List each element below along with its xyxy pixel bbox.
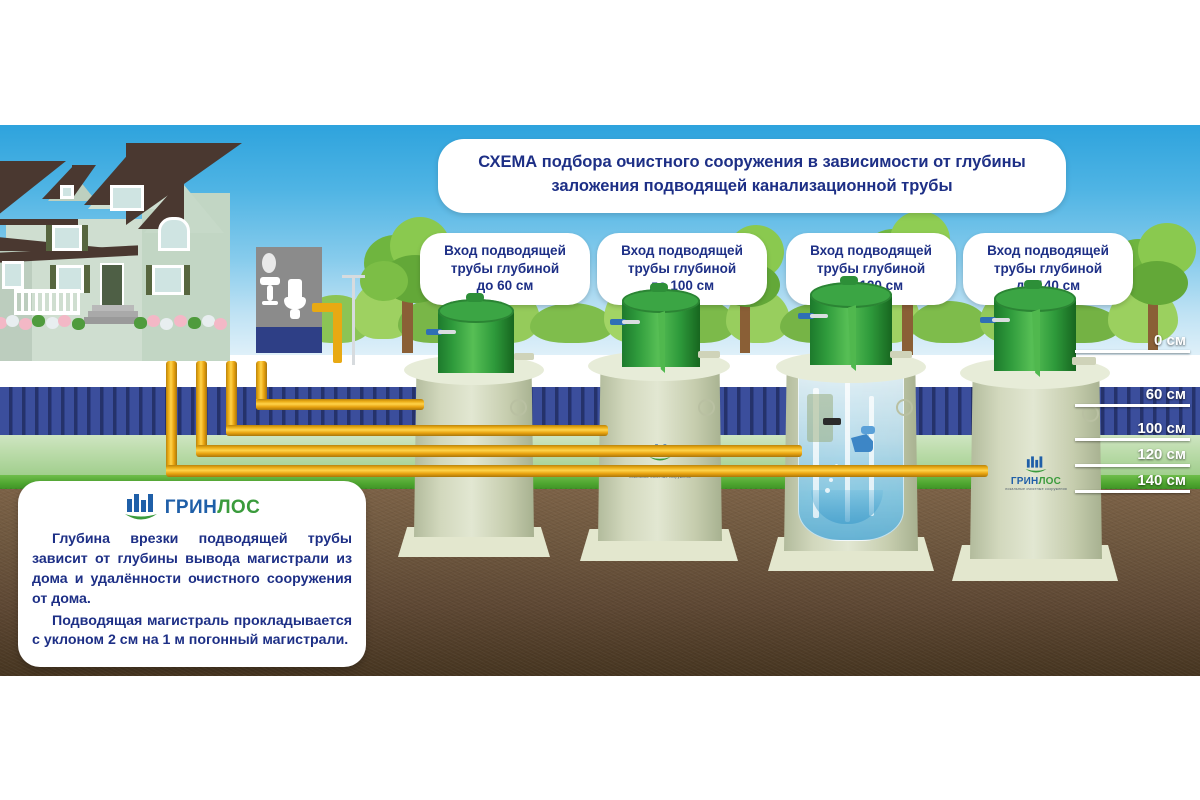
- fence-picket: [52, 387, 61, 437]
- fence-gap: [61, 387, 64, 437]
- fence-gap: [113, 387, 116, 437]
- fence-picket: [143, 387, 152, 437]
- front-door: [100, 263, 124, 307]
- fence-picket: [91, 387, 100, 437]
- tank-logo-subtitle: локальные очистные сооружения: [998, 487, 1074, 491]
- tank-2: ГРИНЛОС локальные очистные сооружения: [580, 307, 738, 579]
- fence-picket: [182, 387, 191, 437]
- side-port: [514, 353, 534, 360]
- depth-label: 140 см: [1075, 473, 1190, 488]
- side-port: [698, 351, 720, 358]
- title-line-1: СХЕМА подбора очистного сооружения в зав…: [456, 151, 1048, 175]
- sink-icon: [260, 277, 280, 285]
- logo-part-los: ЛОС: [1038, 476, 1061, 487]
- tank-interior-cutaway: [798, 371, 904, 541]
- fence-picket: [1196, 387, 1200, 437]
- water-level: [811, 490, 883, 524]
- logo-part-green: ГРИН: [1011, 476, 1039, 487]
- fence-picket: [130, 387, 139, 437]
- info-paragraph-2: Подводящая магистраль прокладывается с у…: [32, 612, 352, 652]
- fence-picket: [156, 387, 165, 437]
- side-port: [890, 351, 912, 358]
- fence-picket: [208, 387, 217, 437]
- fence-gap: [139, 387, 142, 437]
- callout-line-2: трубы глубиной: [973, 260, 1123, 278]
- depth-marker-60: 60 см: [1075, 387, 1190, 407]
- fence-gap: [1192, 387, 1195, 437]
- lid-handle: [466, 293, 484, 302]
- info-box: ГРИНЛОС Глубина врезки подводящей трубы …: [18, 481, 366, 667]
- fence-gap: [74, 387, 77, 437]
- fence-gap: [178, 387, 181, 437]
- fence-gap: [191, 387, 194, 437]
- tank-lid: [438, 299, 514, 323]
- window: [110, 185, 144, 211]
- mirror-icon: [262, 253, 276, 273]
- depth-marker-100: 100 см: [1075, 421, 1190, 441]
- supply-pipe-vertical-140: [166, 361, 177, 473]
- info-text: Глубина врезки подводящей трубы зависит …: [32, 530, 352, 651]
- depth-marker-140: 140 см: [1075, 473, 1190, 493]
- info-paragraph-1: Глубина врезки подводящей трубы зависит …: [32, 530, 352, 610]
- lifting-eye: [1082, 405, 1099, 422]
- depth-marker-120: 120 см: [1075, 447, 1190, 467]
- side-port: [1072, 357, 1096, 365]
- fence-picket: [0, 387, 9, 437]
- callout-line-1: Вход подводящей: [973, 242, 1123, 260]
- logo-part-los: ЛОС: [217, 497, 260, 518]
- window: [158, 217, 190, 251]
- supply-pipe-vertical-120: [196, 361, 207, 453]
- logo-part-green: ГРИН: [165, 497, 217, 518]
- fence-gap: [100, 387, 103, 437]
- scene: СХЕМА подбора очистного сооружения в зав…: [0, 125, 1200, 676]
- flower-bed: [0, 315, 90, 331]
- supply-pipe-horizontal-60: [256, 399, 424, 410]
- depth-label: 100 см: [1075, 421, 1190, 436]
- fence-gap: [22, 387, 25, 437]
- depth-label: 0 см: [1075, 333, 1190, 348]
- fence-gap: [87, 387, 90, 437]
- callout-line-1: Вход подводящей: [607, 242, 757, 260]
- greenlos-mark-icon: [1024, 455, 1048, 476]
- fence-gap: [35, 387, 38, 437]
- fence-gap: [750, 387, 753, 437]
- title-banner: СХЕМА подбора очистного сооружения в зав…: [438, 139, 1066, 213]
- callout-line-1: Вход подводящей: [796, 242, 946, 260]
- fence-gap: [763, 387, 766, 437]
- fence-gap: [152, 387, 155, 437]
- outlet-spout: [810, 314, 828, 318]
- callout-line-2: трубы глубиной: [430, 260, 580, 278]
- interior-port: [823, 418, 841, 425]
- supply-pipe-vertical-100: [226, 361, 237, 433]
- post: [352, 275, 355, 365]
- depth-marker-0: 0 см: [1075, 333, 1190, 353]
- post-arm: [342, 275, 365, 278]
- outlet-spout: [438, 330, 456, 334]
- fence-picket: [117, 387, 126, 437]
- supply-pipe-horizontal-140: [166, 465, 988, 477]
- tank-logo-text: ГРИНЛОС: [998, 476, 1074, 487]
- bathroom-cutaway: [256, 247, 322, 353]
- callout-line-1: Вход подводящей: [430, 242, 580, 260]
- supply-pipe-horizontal-120: [196, 445, 802, 457]
- window: [52, 225, 82, 251]
- window: [152, 265, 184, 295]
- roof: [72, 165, 96, 199]
- toilet-icon: [288, 279, 302, 297]
- lid-handle: [650, 283, 668, 292]
- fence-picket: [26, 387, 35, 437]
- callout-depth: до 60 см: [430, 277, 580, 295]
- fence-picket: [741, 387, 750, 437]
- outlet-spout: [992, 318, 1010, 322]
- fence-picket: [13, 387, 22, 437]
- greenlos-logo-text: ГРИНЛОС: [165, 497, 260, 519]
- supply-pipe-horizontal-100: [226, 425, 608, 436]
- depth-rule: [1075, 350, 1190, 353]
- depth-rule: [1075, 464, 1190, 467]
- lid-handle: [840, 276, 858, 285]
- title-line-2: заложения подводящей канализационной тру…: [456, 175, 1048, 199]
- depth-rule: [1075, 438, 1190, 441]
- infographic-canvas: СХЕМА подбора очистного сооружения в зав…: [0, 0, 1200, 800]
- dormer-window: [60, 185, 74, 199]
- fence-gap: [217, 387, 220, 437]
- window: [2, 261, 24, 289]
- fence-picket: [754, 387, 763, 437]
- fence-picket: [39, 387, 48, 437]
- depth-rule: [1075, 490, 1190, 493]
- lid-handle: [1024, 280, 1042, 289]
- lifting-eye: [896, 399, 913, 416]
- house-illustration: [0, 133, 292, 353]
- fence-picket: [936, 387, 945, 437]
- fence-gap: [945, 387, 948, 437]
- tank-lid: [810, 282, 892, 308]
- house-outlet-drop: [333, 303, 342, 363]
- callout-line-2: трубы глубиной: [796, 260, 946, 278]
- lifting-eye: [698, 399, 715, 416]
- depth-rule: [1075, 404, 1190, 407]
- greenlos-logo: ГРИНЛОС: [32, 493, 352, 523]
- fence-gap: [48, 387, 51, 437]
- outlet-spout: [622, 320, 640, 324]
- callout-60: Вход подводящей трубы глубиной до 60 см: [420, 233, 590, 305]
- tank-logo: ГРИНЛОС локальные очистные сооружения: [998, 455, 1074, 491]
- fence-picket: [65, 387, 74, 437]
- fence-gap: [9, 387, 12, 437]
- greenlos-mark-icon: [124, 493, 158, 523]
- callout-line-2: трубы глубиной: [607, 260, 757, 278]
- tank-lid: [622, 289, 700, 313]
- fence-picket: [104, 387, 113, 437]
- tank-lid: [994, 286, 1076, 312]
- flower-bed: [134, 315, 230, 331]
- lifting-eye: [510, 399, 527, 416]
- depth-label: 60 см: [1075, 387, 1190, 402]
- fence-gap: [126, 387, 129, 437]
- depth-label: 120 см: [1075, 447, 1190, 462]
- fence-picket: [78, 387, 87, 437]
